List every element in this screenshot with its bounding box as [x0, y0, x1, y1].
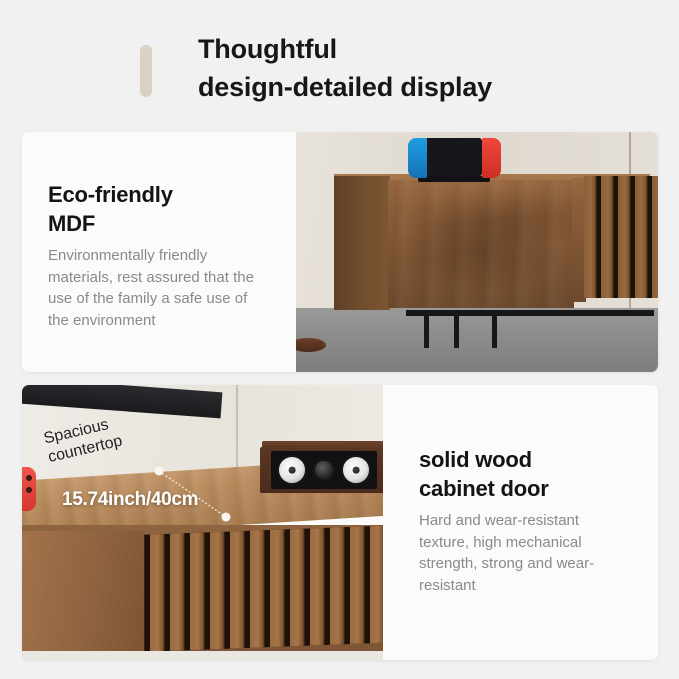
woofer-dust-cap [289, 467, 296, 474]
cabinet-side-panel [334, 176, 390, 310]
center-channel-speaker [260, 447, 383, 493]
floor-strip [22, 651, 383, 660]
cabinet-leg [492, 314, 497, 348]
page-title: Thoughtful design-detailed display [198, 30, 492, 106]
feature-card-eco-friendly-mdf: Eco-friendly MDF Environmentally friendl… [22, 132, 658, 372]
feature-body: Environmentally friendly materials, rest… [48, 245, 270, 331]
speaker-woofer-left [277, 455, 307, 485]
wood-grain-texture [388, 180, 574, 308]
feature-title: Eco-friendly MDF [48, 180, 270, 238]
woofer-dust-cap [353, 467, 360, 474]
speaker-baffle [271, 451, 377, 489]
speaker-top-panel [262, 441, 383, 449]
switch-stand [418, 176, 490, 182]
depth-dimension-label: 15.74inch/40cm [62, 489, 198, 511]
cabinet-door-front [388, 180, 574, 308]
cabinet-leg [454, 312, 459, 348]
switch-screen [424, 138, 482, 176]
product-photo-cabinet-with-switch [296, 132, 658, 372]
feature-body: Hard and wear-resistant texture, high me… [419, 510, 632, 596]
accent-bar [140, 45, 152, 97]
joycon-right-red [22, 467, 36, 511]
speaker-woofer-right [341, 455, 371, 485]
nintendo-switch-console [408, 138, 501, 178]
cabinet-base-rail [406, 310, 654, 316]
cabinet-leg [424, 312, 429, 348]
joycon-left-blue [408, 138, 427, 178]
joycon-button [26, 487, 32, 493]
cabinet-slatted-panel [140, 526, 383, 652]
joycon-button [26, 475, 32, 481]
floor-surface [296, 308, 658, 372]
feature-text-pane: Eco-friendly MDF Environmentally friendl… [22, 132, 296, 372]
cabinet-left-panel [22, 531, 144, 652]
feature-title: solid wood cabinet door [419, 445, 632, 503]
joycon-right-red [482, 138, 501, 178]
cabinet-slatted-door [584, 176, 658, 298]
speaker-tweeter [313, 459, 335, 481]
page-header: Thoughtful design-detailed display [140, 30, 660, 110]
feature-text-pane: solid wood cabinet door Hard and wear-re… [383, 385, 658, 660]
